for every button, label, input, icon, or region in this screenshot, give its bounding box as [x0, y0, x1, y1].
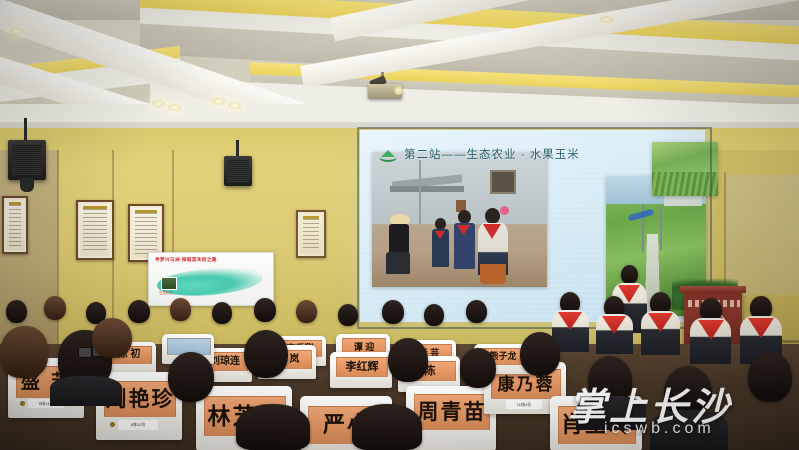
wall-poster-1 [2, 196, 28, 254]
watermark: 掌上长沙 icswb.com [568, 376, 796, 442]
audience-head-foreground [352, 404, 422, 450]
audience-head [6, 300, 27, 323]
audience-head-foreground [92, 318, 132, 358]
audience-head [466, 300, 487, 323]
auditorium-photo: 第二站——生态农业 · 水果玉米 寻梦兴马洲·探稻菜禾桔之路 生态农业 [0, 0, 799, 450]
wall-speaker-mid [224, 156, 252, 186]
speaker-hanger [236, 140, 239, 156]
audience-head-foreground [168, 352, 214, 402]
audience-head [296, 300, 317, 323]
speaker-hanger [24, 118, 27, 140]
audience-head [424, 304, 444, 326]
right-wall-light-panel [726, 175, 799, 295]
wall-speaker-left [8, 140, 46, 180]
ceiling-downlight [600, 16, 613, 23]
ceiling-downlight [168, 104, 181, 111]
audience-head-foreground [244, 330, 288, 378]
banner-sub-label: 生态农业 [159, 290, 173, 295]
audience-head-foreground [460, 348, 496, 388]
audience-shoulders [50, 376, 122, 406]
ceiling-downlight [10, 28, 23, 35]
event-banner: 寻梦兴马洲·探稻菜禾桔之路 生态农业 [148, 252, 274, 306]
audience-head [212, 302, 232, 324]
seat-number-label: 5排12号 [118, 420, 158, 430]
audience-head-foreground [236, 404, 310, 450]
wall-poster-4 [296, 210, 326, 258]
wall-poster-2 [76, 200, 114, 260]
watermark-domain: icswb.com [604, 420, 715, 438]
audience-head [254, 298, 276, 322]
speaker-bracket [20, 178, 34, 192]
wall-seam [57, 150, 59, 350]
green-boat-icon [377, 149, 399, 164]
glasses-icon [78, 347, 92, 358]
seat-name-card: 李红辉 [336, 357, 388, 377]
seat-name-card: 周青苗 [414, 394, 490, 430]
banner-headline: 寻梦兴马洲·探稻菜禾桔之路 [155, 257, 269, 263]
seat-number-label: 11排4号 [506, 400, 542, 409]
ceiling [0, 0, 799, 128]
seat-badge-icon [20, 401, 25, 406]
projector-lens-icon [394, 86, 403, 95]
ceiling-downlight [228, 102, 241, 109]
audience-head [170, 298, 191, 321]
audience-head-foreground [520, 332, 560, 376]
seat-badge-icon [110, 422, 115, 427]
presenter-head [621, 265, 638, 284]
audience-head [338, 304, 358, 326]
slide-title: 第二站——生态农业 · 水果玉米 [404, 146, 580, 162]
podium-top [680, 286, 746, 293]
audience-head [128, 300, 150, 323]
audience-head-foreground [0, 326, 48, 378]
audience-head [382, 300, 404, 324]
audience-head [44, 296, 66, 320]
ceiling-downlight [212, 98, 225, 105]
audience-head-foreground [388, 338, 428, 382]
ceiling-downlight [152, 100, 165, 107]
banner-photo-chip [161, 277, 177, 290]
